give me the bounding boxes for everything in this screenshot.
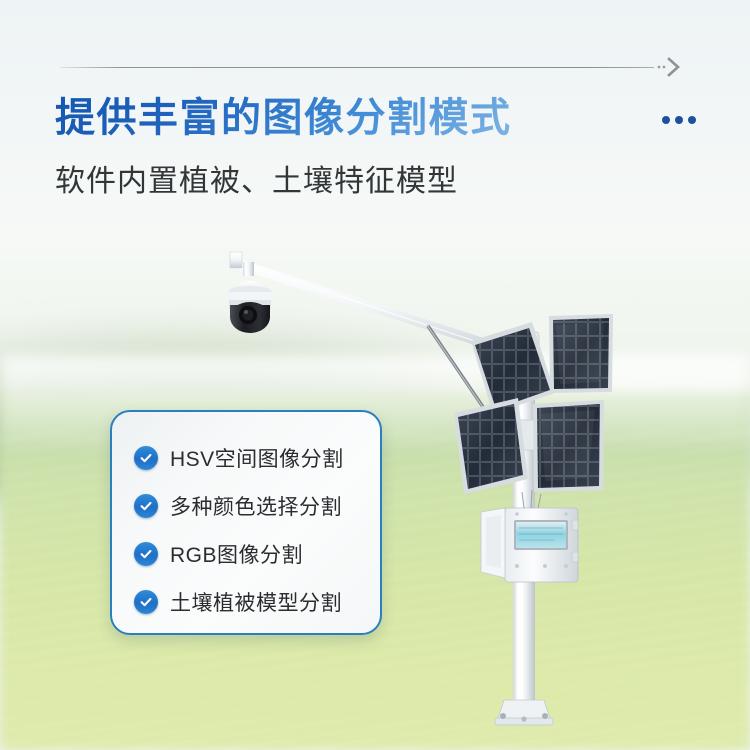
check-circle-icon — [134, 446, 158, 470]
feature-card: HSV空间图像分割 多种颜色选择分割 RGB图像分割 — [110, 410, 382, 635]
list-item[interactable]: HSV空间图像分割 — [134, 434, 380, 482]
header-rule — [60, 67, 654, 68]
list-item[interactable]: 土壤植被模型分割 — [134, 578, 380, 626]
list-item[interactable]: RGB图像分割 — [134, 530, 380, 578]
list-item[interactable]: 多种颜色选择分割 — [134, 482, 380, 530]
feature-label: HSV空间图像分割 — [170, 443, 344, 473]
feature-label: 土壤植被模型分割 — [170, 587, 342, 617]
page-subtitle: 软件内置植被、土壤特征模型 — [55, 156, 458, 200]
check-circle-icon — [134, 494, 158, 518]
promo-banner: 提供丰富的图像分割模式 软件内置植被、土壤特征模型 — [0, 0, 750, 750]
dashed-chevron-right-icon — [656, 56, 682, 78]
three-dots-icon — [662, 116, 696, 124]
page-title: 提供丰富的图像分割模式 — [55, 96, 512, 140]
feature-label: RGB图像分割 — [170, 539, 303, 569]
check-circle-icon — [134, 590, 158, 614]
check-circle-icon — [134, 542, 158, 566]
feature-label: 多种颜色选择分割 — [170, 491, 342, 521]
